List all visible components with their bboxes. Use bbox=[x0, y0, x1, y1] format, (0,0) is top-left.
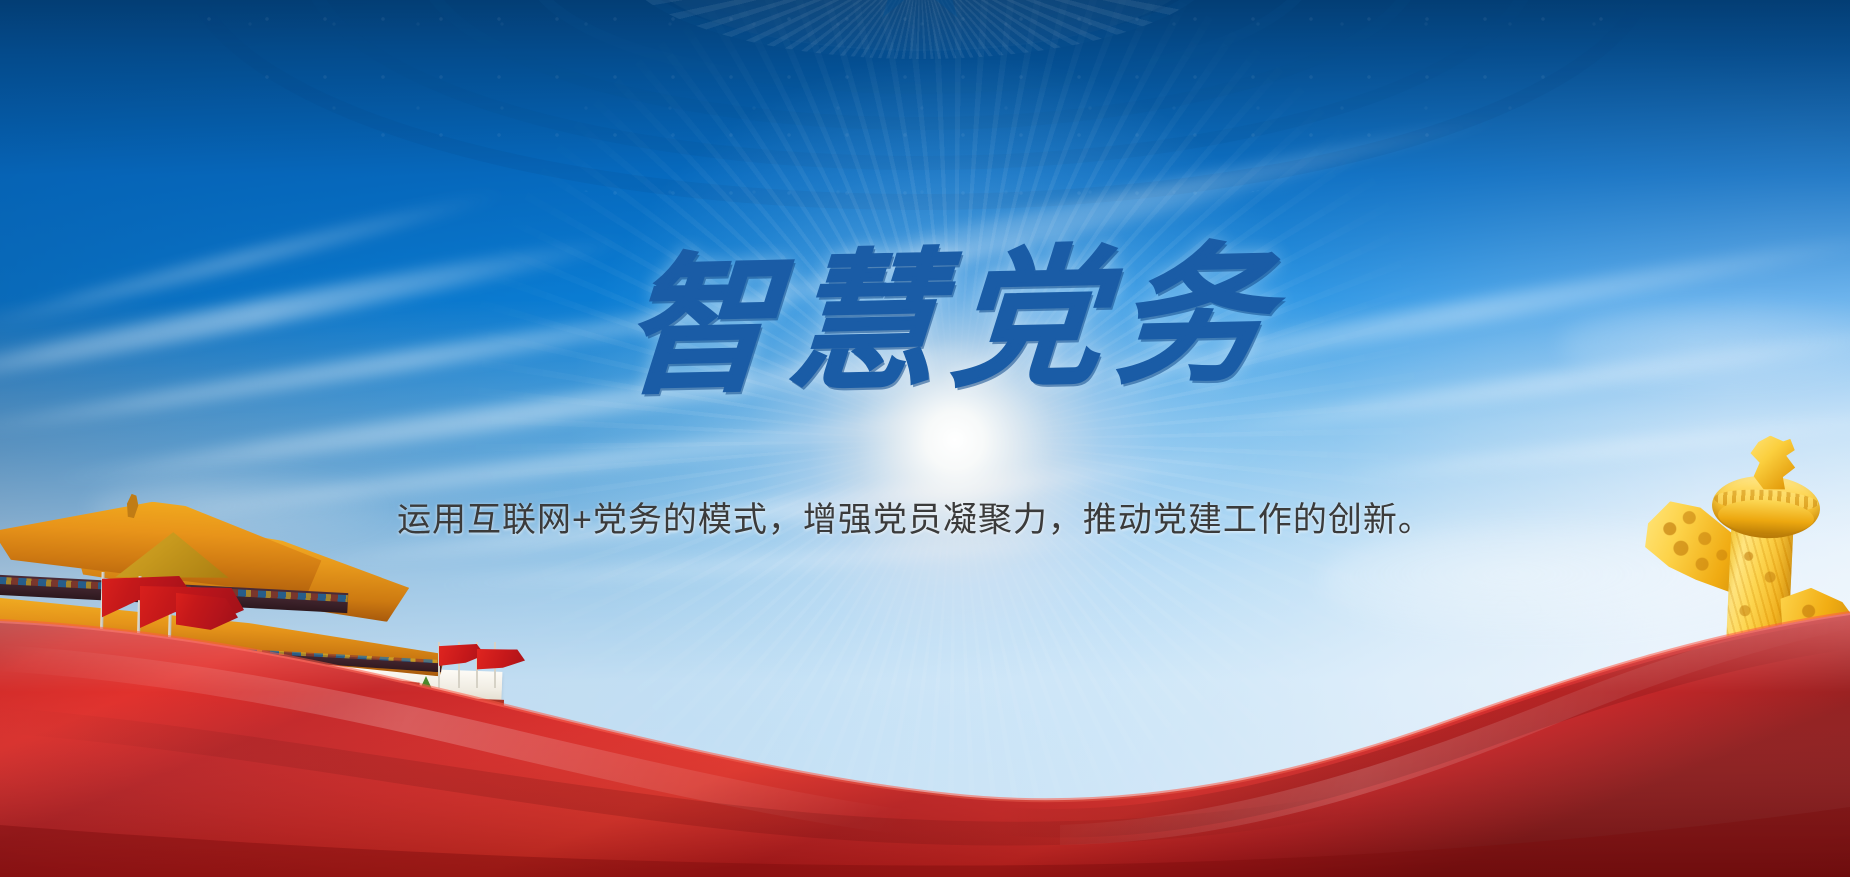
smart-party-affairs-banner: 中华人民共和国万岁 世界人民大团结万岁 智慧党务 运用互联网+党务的模式， bbox=[0, 0, 1850, 877]
page-title: 智慧党务 bbox=[618, 239, 1269, 402]
ribbon-svg bbox=[0, 557, 1850, 877]
red-silk-ribbon bbox=[0, 557, 1850, 877]
page-subtitle: 运用互联网+党务的模式，增强党员凝聚力，推动党建工作的创新。 bbox=[0, 492, 1840, 541]
